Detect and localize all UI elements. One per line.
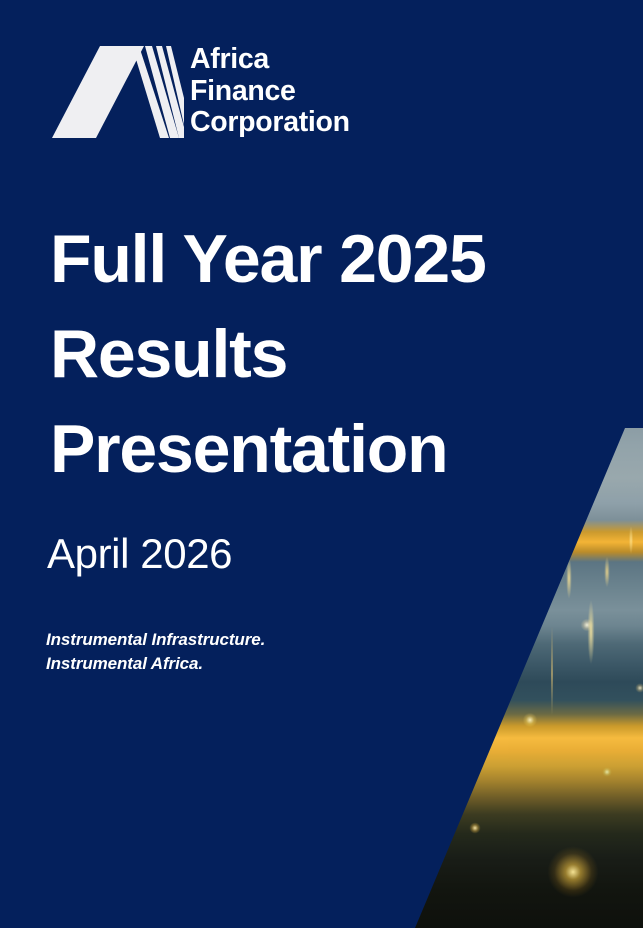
page-title-line-3: Presentation xyxy=(50,402,610,497)
afc-logo-line-3: Corporation xyxy=(190,107,350,139)
afc-logo-wordmark: Africa Finance Corporation xyxy=(190,44,350,139)
page-title-line-1: Full Year 2025 xyxy=(50,212,610,307)
title-slide: Africa Finance Corporation Full Year 202… xyxy=(0,0,643,928)
afc-chevron-mark-icon xyxy=(52,46,184,138)
page-title: Full Year 2025 Results Presentation xyxy=(50,212,610,497)
afc-logo-line-1: Africa xyxy=(190,44,350,76)
presentation-date: April 2026 xyxy=(47,528,232,580)
company-tagline: Instrumental Infrastructure. Instrumenta… xyxy=(46,628,265,676)
company-tagline-line-2: Instrumental Africa. xyxy=(46,652,265,676)
afc-logo-line-2: Finance xyxy=(190,76,350,108)
company-tagline-line-1: Instrumental Infrastructure. xyxy=(46,628,265,652)
afc-logo: Africa Finance Corporation xyxy=(52,46,382,142)
page-title-line-2: Results xyxy=(50,307,610,402)
